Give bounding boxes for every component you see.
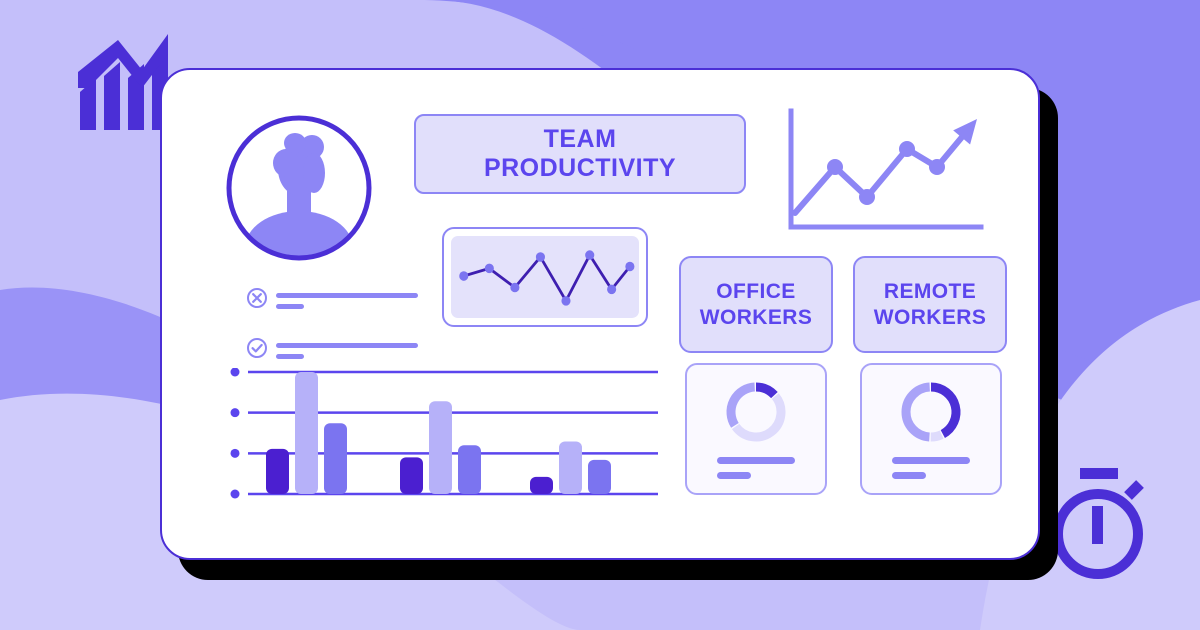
avatar	[224, 113, 374, 263]
circle-x-icon	[246, 287, 268, 309]
legend-line-long	[276, 343, 418, 348]
remote-workers-pill[interactable]: REMOTE WORKERS	[853, 256, 1007, 353]
grouped-bar-chart	[230, 368, 660, 500]
page-title: TEAM PRODUCTIVITY	[414, 114, 746, 194]
stat-line-long	[717, 457, 795, 464]
remote-workers-stat-card	[860, 363, 1002, 495]
stat-line-short	[717, 472, 751, 479]
remote-workers-donut	[898, 379, 964, 445]
legend-row-positive	[246, 333, 418, 367]
office-workers-donut	[723, 379, 789, 445]
stat-line-long	[892, 457, 970, 464]
remote-workers-line-1: REMOTE	[884, 280, 976, 303]
office-workers-pill[interactable]: OFFICE WORKERS	[679, 256, 833, 353]
stat-line-short	[892, 472, 926, 479]
poster-canvas: TEAM PRODUCTIVITY	[0, 0, 1200, 630]
office-workers-line-2: WORKERS	[700, 306, 812, 329]
page-title-line-1: TEAM	[544, 125, 617, 153]
circle-check-icon	[246, 337, 268, 359]
growth-line-chart	[785, 105, 985, 235]
office-workers-stat-card	[685, 363, 827, 495]
legend-row-negative	[246, 283, 418, 317]
page-title-line-2: PRODUCTIVITY	[484, 154, 676, 182]
remote-workers-line-2: WORKERS	[874, 306, 986, 329]
legend-line-short	[276, 354, 304, 359]
sparkline-chart	[451, 236, 639, 318]
legend-line-long	[276, 293, 418, 298]
stopwatch-icon	[1042, 462, 1162, 587]
office-workers-line-1: OFFICE	[716, 280, 795, 303]
sparkline-panel	[442, 227, 648, 327]
legend-line-short	[276, 304, 304, 309]
